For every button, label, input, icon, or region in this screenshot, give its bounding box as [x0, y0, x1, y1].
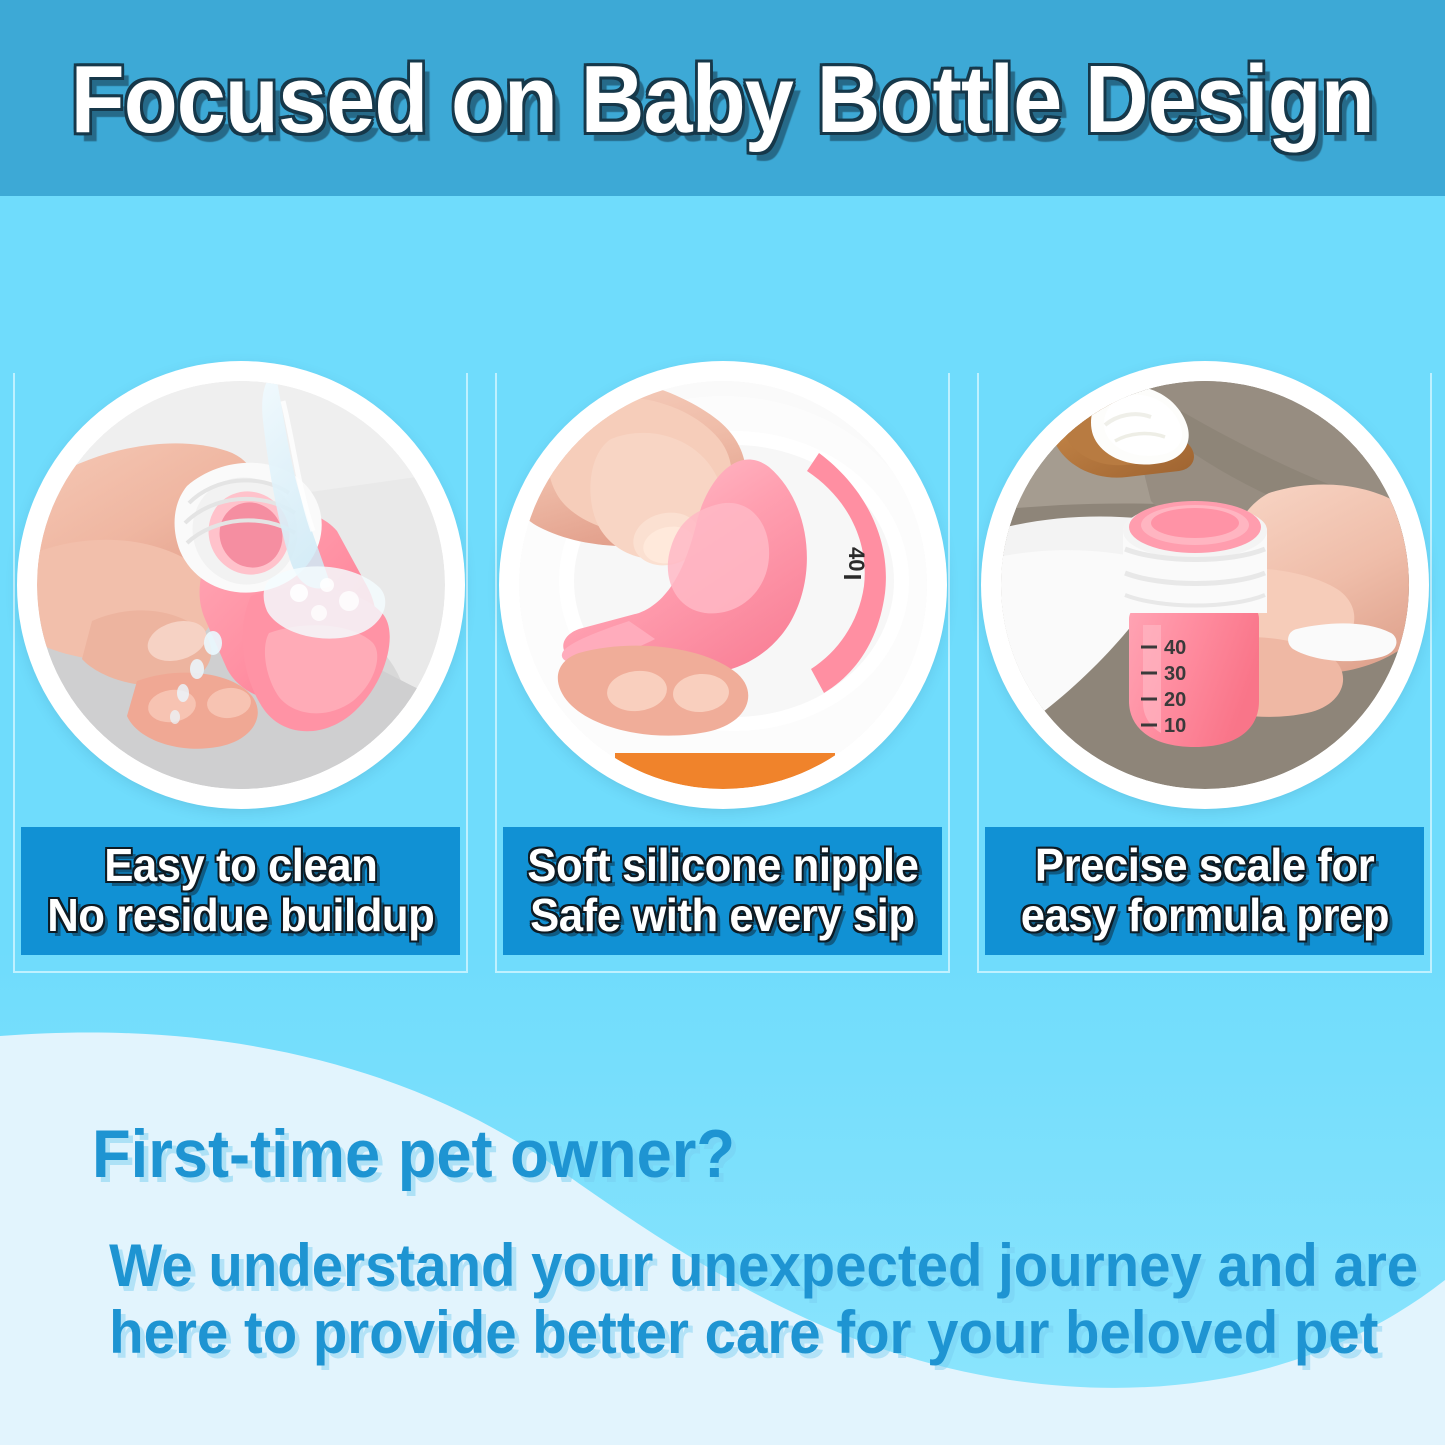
feature-panels: Easy to clean No residue buildup — [13, 373, 1432, 973]
caption-precise-scale: Precise scale for easy formula prep — [985, 827, 1424, 955]
bottom-body-line-1: We understand your unexpected journey an… — [109, 1232, 1336, 1299]
caption-soft-silicone-nipple: Soft silicone nipple Safe with every sip — [503, 827, 942, 955]
caption-line-2: No residue buildup — [47, 892, 434, 940]
caption-line-1: Easy to clean — [104, 842, 377, 890]
feature-panel-soft-silicone-nipple[interactable]: 40 — [495, 373, 950, 973]
scale-label-40: 40 — [1164, 637, 1186, 659]
infographic-page: Focused on Baby Bottle Design — [0, 0, 1445, 1445]
scale-label-10: 10 — [1164, 715, 1186, 737]
feature-panel-precise-scale[interactable]: 40 30 20 10 Precise scale for — [977, 373, 1432, 973]
bottom-text-block: First-time pet owner? We understand your… — [0, 1120, 1445, 1366]
caption-easy-to-clean: Easy to clean No residue buildup — [21, 827, 460, 955]
caption-line-1: Soft silicone nipple — [527, 842, 918, 890]
caption-line-2: Safe with every sip — [530, 892, 914, 940]
scale-label-20: 20 — [1164, 689, 1186, 711]
caption-line-1: Precise scale for — [1035, 842, 1374, 890]
page-title: Focused on Baby Bottle Design — [71, 52, 1374, 148]
scale-label-30: 30 — [1164, 663, 1186, 685]
feature-panel-easy-to-clean[interactable]: Easy to clean No residue buildup — [13, 373, 468, 973]
photo-precise-scale: 40 30 20 10 — [985, 365, 1425, 805]
bottom-heading: First-time pet owner? — [92, 1120, 1350, 1188]
svg-text:40: 40 — [844, 547, 869, 571]
caption-line-2: easy formula prep — [1020, 892, 1388, 940]
photo-easy-to-clean — [21, 365, 461, 805]
bottom-body-line-2: here to provide better care for your bel… — [109, 1299, 1336, 1366]
header-band: Focused on Baby Bottle Design — [0, 0, 1445, 196]
photo-soft-silicone-nipple: 40 — [503, 365, 943, 805]
bottom-body: We understand your unexpected journey an… — [0, 1232, 1445, 1366]
